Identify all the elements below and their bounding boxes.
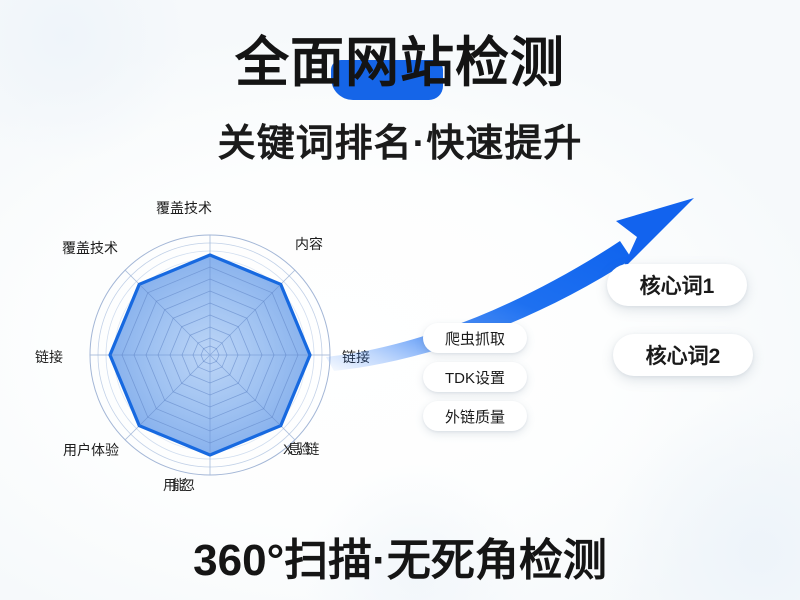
keyword-pill-label: 核心词1	[640, 270, 715, 300]
radar-chart: 覆盖技术 内容 链接 X息验链 用能忽 用户体验 链接 覆盖技术	[30, 190, 410, 520]
radar-axis-label-right: 链接	[342, 347, 370, 367]
keyword-pill-1[interactable]: 核心词1	[607, 264, 747, 306]
feature-pill-label: TDK设置	[445, 367, 505, 388]
main-title: 全面网站检测	[235, 34, 565, 92]
title-segment-highlighted: 网站	[345, 33, 455, 93]
radar-axis-label-top-right: 内容	[295, 234, 323, 254]
keyword-pill-label: 核心词2	[646, 340, 721, 370]
arrow-head	[616, 198, 694, 270]
radar-axis-label-bottom-right: X息验链	[283, 439, 314, 459]
title-block: 全面网站检测	[0, 34, 800, 92]
feature-pill-tdk[interactable]: TDK设置	[423, 362, 527, 392]
radar-axis-label-top: 覆盖技术	[156, 198, 212, 218]
feature-pill-crawl[interactable]: 爬虫抓取	[423, 323, 527, 353]
feature-pill-backlink[interactable]: 外链质量	[423, 401, 527, 431]
radar-axis-label-bottom-left: 用户体验	[63, 440, 119, 460]
radar-axis-label-bottom: 用能忽	[163, 475, 190, 495]
poster-canvas: 全面网站检测 关键词排名·快速提升	[0, 0, 800, 600]
radar-axis-label-top-left: 覆盖技术	[62, 238, 118, 258]
footer-tagline: 360°扫描·无死角检测	[0, 524, 800, 588]
sub-title: 关键词排名·快速提升	[0, 112, 800, 167]
feature-pill-label: 外链质量	[445, 406, 505, 427]
radar-axis-label-left: 链接	[35, 347, 63, 367]
title-segment-after: 检测	[455, 33, 565, 93]
keyword-pill-2[interactable]: 核心词2	[613, 334, 753, 376]
feature-pill-label: 爬虫抓取	[445, 328, 505, 349]
title-segment-before: 全面	[235, 33, 345, 93]
